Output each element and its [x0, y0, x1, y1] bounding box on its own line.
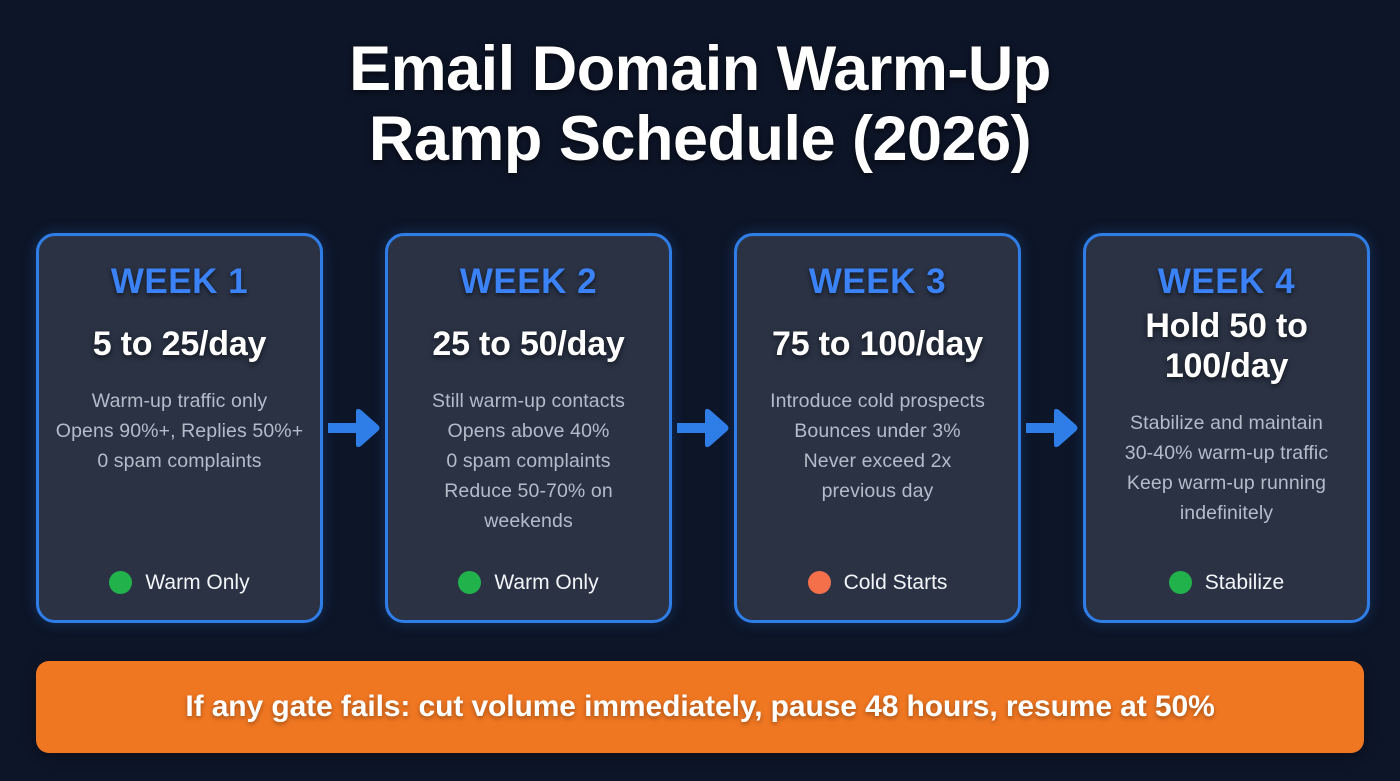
week-volume-1: 5 to 25/day [93, 324, 267, 364]
page-title-line-2: Ramp Schedule (2026) [0, 104, 1400, 174]
week-card-4[interactable]: WEEK 4 Hold 50 to 100/day Stabilize and … [1083, 233, 1370, 623]
infographic-canvas: Email Domain Warm-Up Ramp Schedule (2026… [0, 0, 1400, 781]
week-volume-4: Hold 50 to 100/day [1098, 306, 1355, 386]
detail-line: 30-40% warm-up traffic [1125, 438, 1328, 468]
status-label-1: Warm Only [145, 571, 249, 594]
week-cards-row: WEEK 1 5 to 25/day Warm-up traffic only … [36, 233, 1366, 623]
week-details-3: Introduce cold prospects Bounces under 3… [770, 386, 985, 506]
arrow-connector-1 [323, 233, 385, 623]
week-card-2[interactable]: WEEK 2 25 to 50/day Still warm-up contac… [385, 233, 672, 623]
status-dot-orange [808, 571, 831, 594]
week-details-2: Still warm-up contacts Opens above 40% 0… [432, 386, 625, 536]
page-title: Email Domain Warm-Up Ramp Schedule (2026… [0, 34, 1400, 174]
week-details-1: Warm-up traffic only Opens 90%+, Replies… [56, 386, 303, 476]
week-details-4: Stabilize and maintain 30-40% warm-up tr… [1125, 408, 1328, 528]
status-dot-green [109, 571, 132, 594]
detail-line: 0 spam complaints [432, 446, 625, 476]
status-badge-1: Warm Only [109, 571, 249, 594]
detail-line: Opens above 40% [432, 416, 625, 446]
detail-line: Reduce 50-70% on [432, 476, 625, 506]
arrow-connector-2 [672, 233, 734, 623]
detail-line: Stabilize and maintain [1125, 408, 1328, 438]
week-label-2: WEEK 2 [460, 262, 597, 302]
detail-line: Still warm-up contacts [432, 386, 625, 416]
arrow-right-icon [1026, 407, 1078, 449]
status-dot-green [458, 571, 481, 594]
status-label-3: Cold Starts [844, 571, 948, 594]
week-volume-3: 75 to 100/day [772, 324, 983, 364]
status-dot-green [1169, 571, 1192, 594]
status-label-4: Stabilize [1205, 571, 1284, 594]
warning-banner-text: If any gate fails: cut volume immediatel… [165, 690, 1234, 724]
detail-line: weekends [432, 506, 625, 536]
detail-line: indefinitely [1125, 498, 1328, 528]
week-card-1[interactable]: WEEK 1 5 to 25/day Warm-up traffic only … [36, 233, 323, 623]
arrow-connector-3 [1021, 233, 1083, 623]
warning-banner: If any gate fails: cut volume immediatel… [36, 661, 1364, 753]
detail-line: Warm-up traffic only [56, 386, 303, 416]
status-badge-4: Stabilize [1169, 571, 1284, 594]
status-badge-2: Warm Only [458, 571, 598, 594]
week-label-3: WEEK 3 [809, 262, 946, 302]
detail-line: Never exceed 2x [770, 446, 985, 476]
page-title-line-1: Email Domain Warm-Up [0, 34, 1400, 104]
week-card-3[interactable]: WEEK 3 75 to 100/day Introduce cold pros… [734, 233, 1021, 623]
detail-line: 0 spam complaints [56, 446, 303, 476]
arrow-right-icon [677, 407, 729, 449]
week-label-1: WEEK 1 [111, 262, 248, 302]
week-label-4: WEEK 4 [1158, 262, 1295, 302]
detail-line: previous day [770, 476, 985, 506]
arrow-right-icon [328, 407, 380, 449]
status-badge-3: Cold Starts [808, 571, 948, 594]
week-volume-2: 25 to 50/day [432, 324, 624, 364]
detail-line: Introduce cold prospects [770, 386, 985, 416]
detail-line: Opens 90%+, Replies 50%+ [56, 416, 303, 446]
detail-line: Keep warm-up running [1125, 468, 1328, 498]
status-label-2: Warm Only [494, 571, 598, 594]
detail-line: Bounces under 3% [770, 416, 985, 446]
